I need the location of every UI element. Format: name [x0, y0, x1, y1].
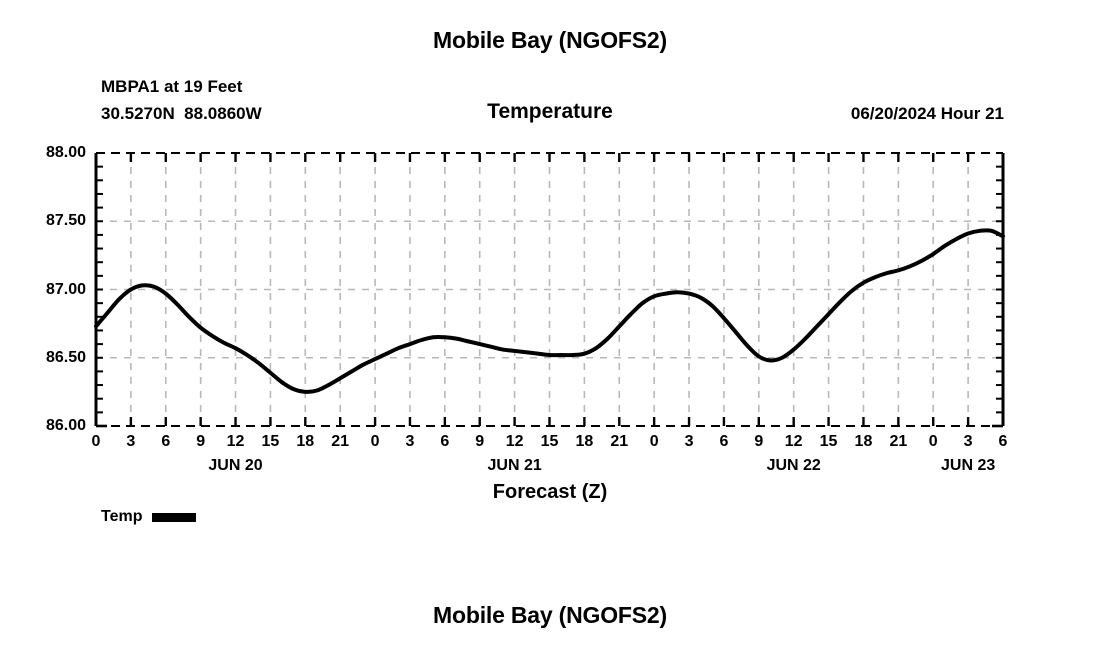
x-axis-title: Forecast (Z): [96, 481, 1004, 504]
chart-page: Mobile Bay (NGOFS2) MBPA1 at 19 Feet 30.…: [0, 0, 1100, 650]
x-day-label: JUN 21: [455, 457, 575, 475]
x-tick-label: 6: [983, 433, 1023, 451]
y-tick-label: 86.50: [8, 349, 86, 367]
legend-label-temp: Temp: [101, 508, 142, 526]
chart-svg: [0, 0, 1100, 650]
chart-legend: Temp: [101, 508, 196, 526]
legend-swatch-temp: [152, 513, 196, 522]
gridlines: [96, 153, 1003, 426]
x-day-label: JUN 20: [176, 457, 296, 475]
y-tick-label: 86.00: [8, 417, 86, 435]
x-day-label: JUN 22: [734, 457, 854, 475]
plot-area: 88.0087.5087.0086.5086.00 03691215182103…: [0, 0, 1100, 650]
page-title-bottom: Mobile Bay (NGOFS2): [0, 602, 1100, 629]
y-tick-label: 87.50: [8, 212, 86, 230]
y-tick-label: 88.00: [8, 144, 86, 162]
y-tick-label: 87.00: [8, 281, 86, 299]
x-day-label: JUN 23: [908, 457, 1028, 475]
